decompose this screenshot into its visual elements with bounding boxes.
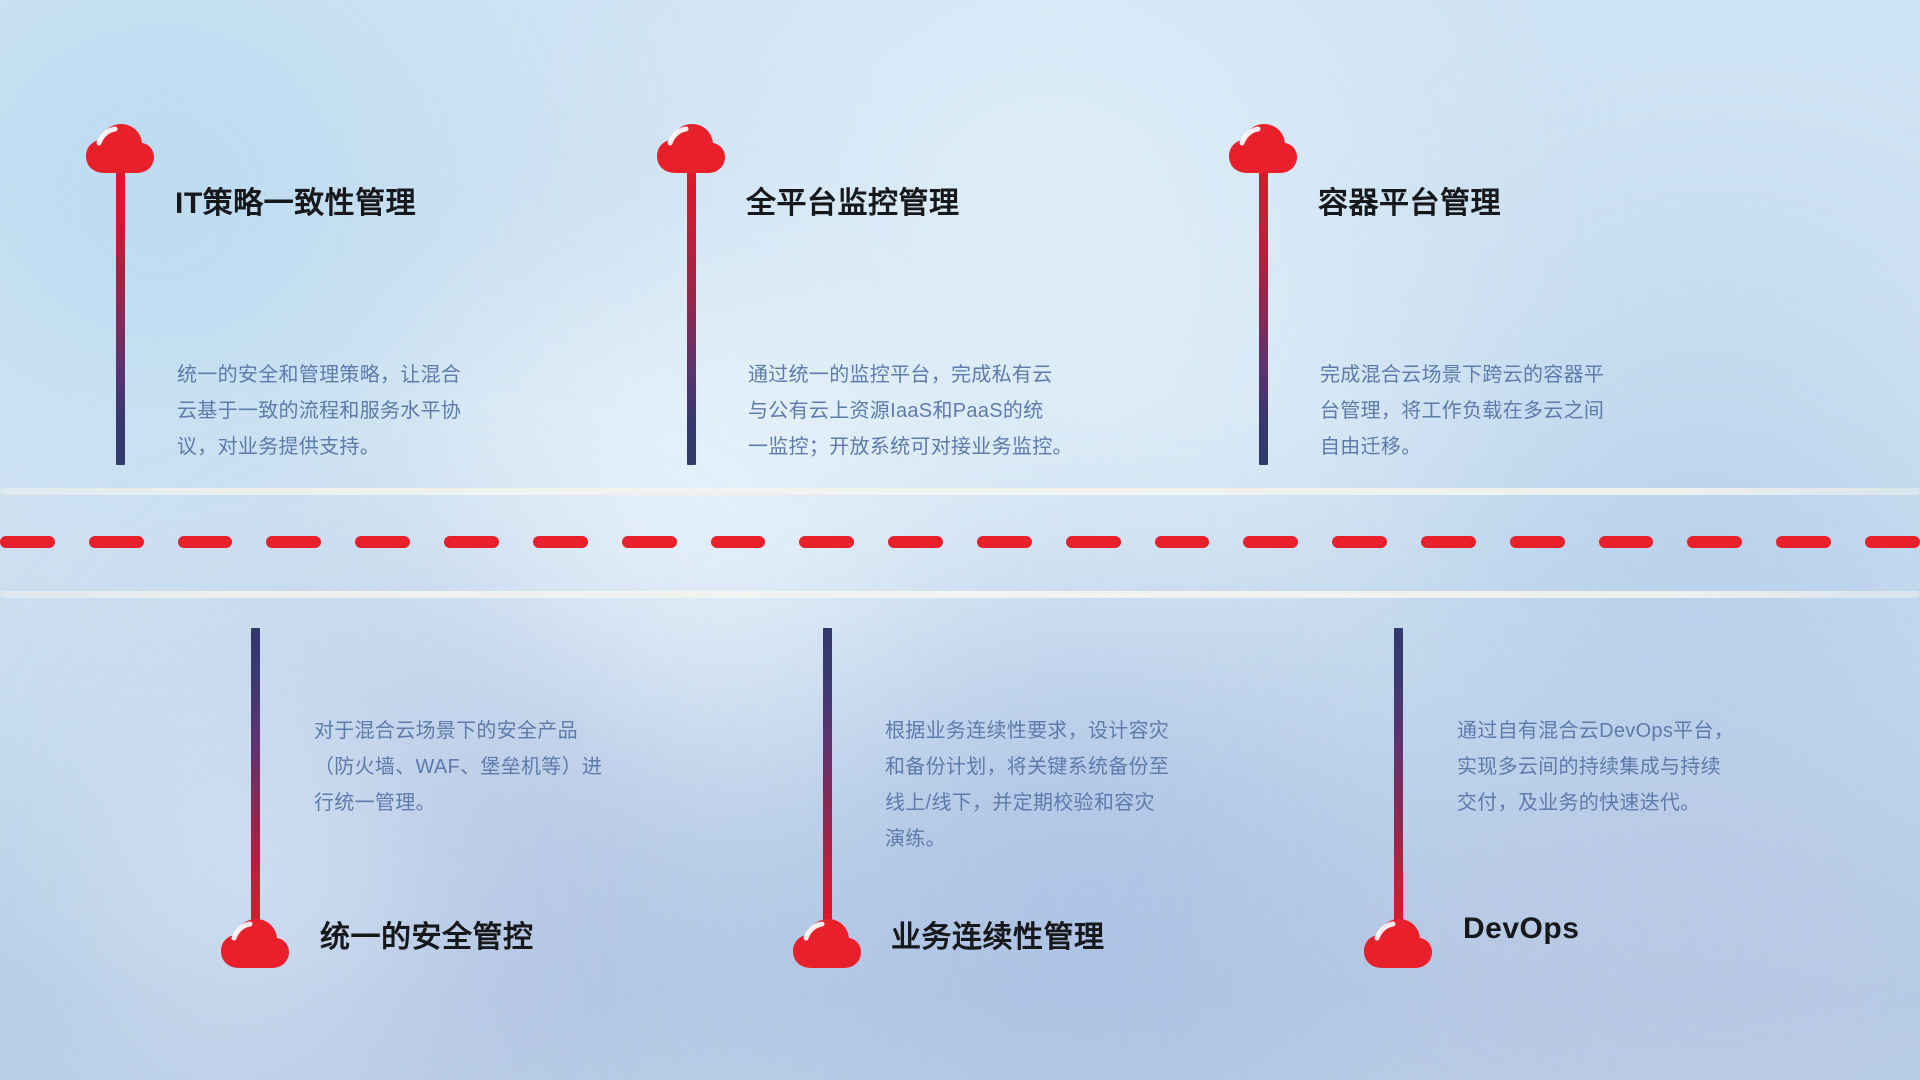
- divider-dash: [1865, 536, 1920, 548]
- bottom-row: 对于混合云场景下的安全产品 （防火墙、WAF、堡垒机等）进 行统一管理。 统一的…: [0, 598, 1920, 1080]
- divider-dash: [1155, 536, 1210, 548]
- divider-rail-bottom: [0, 591, 1920, 598]
- divider-dash: [0, 536, 55, 548]
- divider-dash: [266, 536, 321, 548]
- pin-marker: [684, 165, 698, 465]
- divider-rail-top: [0, 488, 1920, 495]
- pin-marker: [1256, 165, 1270, 465]
- pin-stem: [687, 165, 696, 465]
- pin-marker: [248, 628, 262, 928]
- divider-dash: [1332, 536, 1387, 548]
- card-title: 统一的安全管控: [320, 912, 534, 956]
- divider-dash: [1687, 536, 1742, 548]
- divider-dash: [977, 536, 1032, 548]
- cloud-icon: [792, 918, 862, 970]
- pin-stem: [116, 165, 125, 465]
- divider-dash: [533, 536, 588, 548]
- divider: [0, 488, 1920, 598]
- divider-dash: [1421, 536, 1476, 548]
- divider-dash: [622, 536, 677, 548]
- card-description: 统一的安全和管理策略，让混合 云基于一致的流程和服务水平协 议，对业务提供支持。: [177, 357, 527, 465]
- capability-card-full-platform-monitoring: 全平台监控管理 通过统一的监控平台，完成私有云 与公有云上资源IaaS和PaaS…: [573, 0, 1146, 488]
- pin-marker: [1391, 628, 1405, 928]
- card-title: 容器平台管理: [1318, 178, 1501, 222]
- cloud-icon: [656, 123, 726, 175]
- pin-stem: [823, 628, 832, 928]
- divider-dash: [1599, 536, 1654, 548]
- capability-card-container-platform-management: 容器平台管理 完成混合云场景下跨云的容器平 台管理，将工作负载在多云之间 自由迁…: [1146, 0, 1719, 488]
- divider-dashed-line: [0, 536, 1920, 548]
- divider-dash: [355, 536, 410, 548]
- card-description: 通过自有混合云DevOps平台， 实现多云间的持续集成与持续 交付，及业务的快速…: [1457, 713, 1807, 821]
- divider-dash: [444, 536, 499, 548]
- divider-dash: [1243, 536, 1298, 548]
- cloud-icon: [1228, 123, 1298, 175]
- pin-stem: [1394, 628, 1403, 928]
- card-title: 业务连续性管理: [891, 912, 1105, 956]
- pin-marker: [113, 165, 127, 465]
- divider-dash: [888, 536, 943, 548]
- top-row: IT策略一致性管理 统一的安全和管理策略，让混合 云基于一致的流程和服务水平协 …: [0, 0, 1920, 488]
- pin-stem: [251, 628, 260, 928]
- capability-card-devops: 通过自有混合云DevOps平台， 实现多云间的持续集成与持续 交付，及业务的快速…: [1146, 598, 1719, 1080]
- divider-dash: [178, 536, 233, 548]
- pin-marker: [820, 628, 834, 928]
- cloud-icon: [1363, 918, 1433, 970]
- capability-card-unified-security-control: 对于混合云场景下的安全产品 （防火墙、WAF、堡垒机等）进 行统一管理。 统一的…: [0, 598, 573, 1080]
- card-title: DevOps: [1463, 912, 1579, 946]
- card-title: IT策略一致性管理: [175, 178, 416, 222]
- pin-stem: [1259, 165, 1268, 465]
- divider-dash: [711, 536, 766, 548]
- cloud-icon: [85, 123, 155, 175]
- divider-dash: [1510, 536, 1565, 548]
- capability-card-it-policy-consistency: IT策略一致性管理 统一的安全和管理策略，让混合 云基于一致的流程和服务水平协 …: [0, 0, 573, 488]
- card-description: 完成混合云场景下跨云的容器平 台管理，将工作负载在多云之间 自由迁移。: [1320, 357, 1670, 465]
- divider-dash: [1776, 536, 1831, 548]
- divider-dash: [1066, 536, 1121, 548]
- divider-dash: [799, 536, 854, 548]
- card-title: 全平台监控管理: [746, 178, 960, 222]
- card-description: 通过统一的监控平台，完成私有云 与公有云上资源IaaS和PaaS的统 一监控；开…: [748, 357, 1098, 465]
- cloud-icon: [220, 918, 290, 970]
- divider-dash: [89, 536, 144, 548]
- capability-card-business-continuity-management: 根据业务连续性要求，设计容灾 和备份计划，将关键系统备份至 线上/线下，并定期校…: [573, 598, 1146, 1080]
